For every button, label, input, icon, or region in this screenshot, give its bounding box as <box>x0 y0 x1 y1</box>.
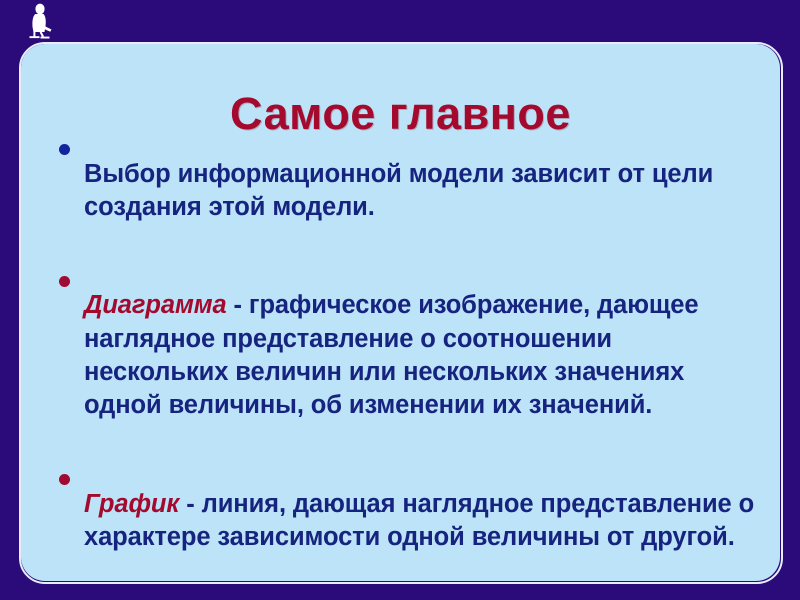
bullet-body: Выбор информационной модели зависит от ц… <box>84 160 713 221</box>
page-title: Самое главное <box>21 90 780 137</box>
bullet-dot-icon <box>59 276 70 287</box>
list-item: Выбор информационной модели зависит от ц… <box>59 132 759 250</box>
presentation-slide: Самое главное Выбор информационной модел… <box>0 0 800 600</box>
bullet-text: Диаграмма - графическое изображение, даю… <box>84 289 759 423</box>
bullet-text: Выбор информационной модели зависит от ц… <box>84 158 759 225</box>
bullet-term: График <box>84 490 179 518</box>
bullet-dot-icon <box>59 144 70 155</box>
bullet-dot-icon <box>59 474 70 485</box>
bullet-body: - линия, дающая наглядное представление … <box>84 490 754 551</box>
content-panel: Самое главное Выбор информационной модел… <box>21 44 780 581</box>
seated-figure-icon <box>24 2 58 42</box>
bullet-list: Выбор информационной модели зависит от ц… <box>59 132 759 580</box>
bullet-term: Диаграмма <box>84 291 227 319</box>
list-item: Диаграмма - графическое изображение, даю… <box>59 264 759 449</box>
bullet-text: График - линия, дающая наглядное предста… <box>84 488 759 555</box>
list-item: График - линия, дающая наглядное предста… <box>59 462 759 580</box>
